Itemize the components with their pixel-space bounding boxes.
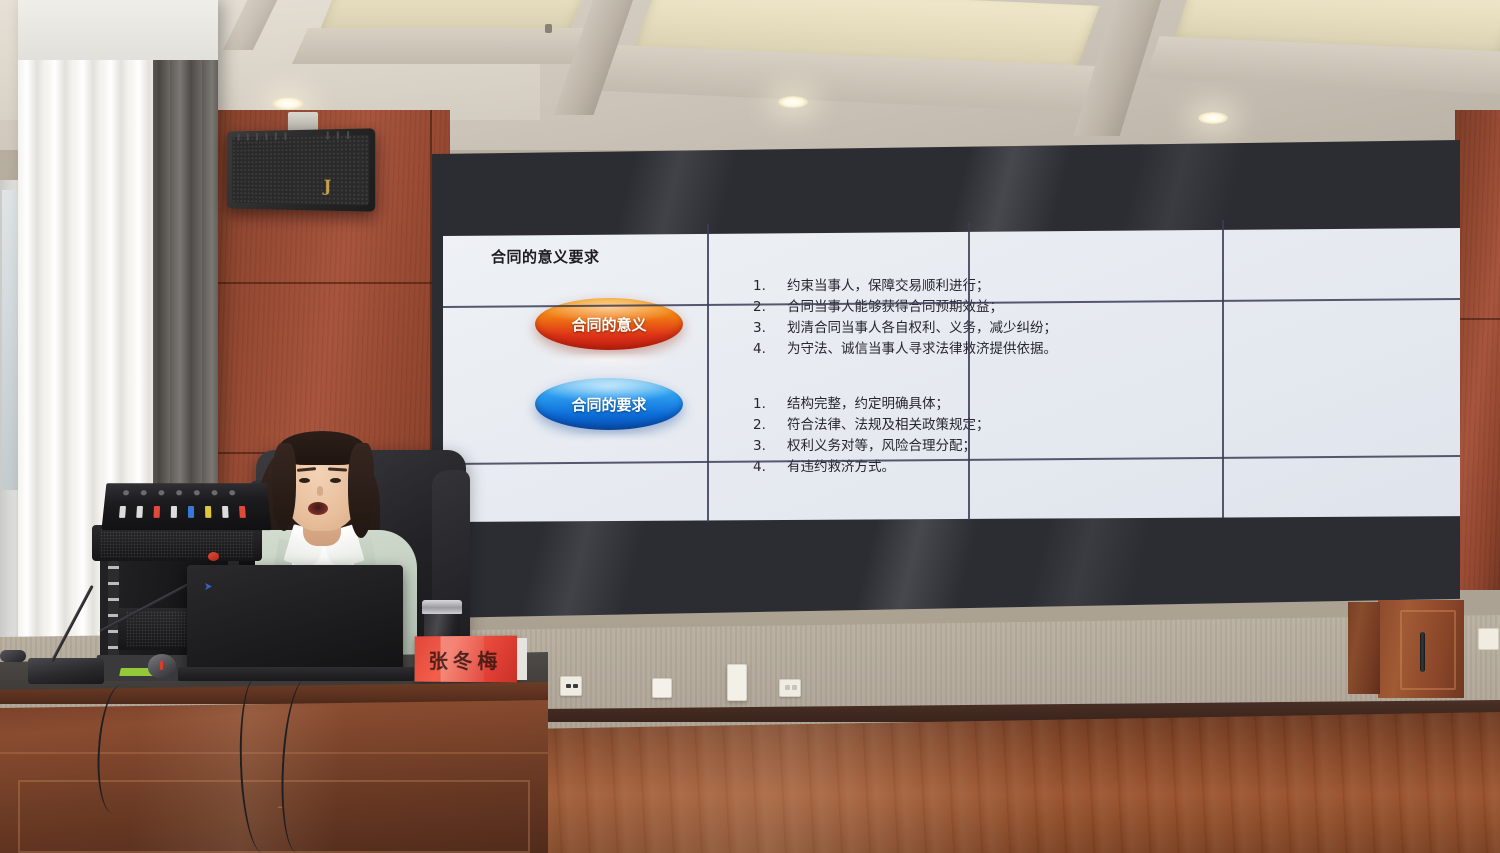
- video-wall-bezel-v1: [707, 224, 709, 522]
- ceiling-downlight-2: [778, 96, 808, 108]
- presenter-nameplate: 张冬梅: [415, 636, 517, 683]
- list-item: 3. 划清合同当事人各自权利、义务，减少纠纷；: [753, 318, 1057, 339]
- speaker-fin: [247, 133, 249, 141]
- list-item-number: 1.: [753, 394, 787, 415]
- video-wall-bezel-v2: [968, 222, 970, 520]
- mixer-fader[interactable]: [119, 506, 126, 518]
- list-item-text: 划清合同当事人各自权利、义务，减少纠纷；: [787, 318, 1057, 339]
- pill-requirement-reflection: [548, 432, 670, 448]
- list-item-number: 3.: [753, 318, 787, 339]
- power-amplifier: [92, 525, 262, 561]
- list-item: 1. 结构完整，约定明确具体；: [753, 394, 990, 415]
- presenter-hair-side-right: [348, 443, 374, 538]
- list-item-number: 2.: [753, 415, 787, 436]
- wall-control-panel[interactable]: [727, 664, 747, 701]
- wall-power-outlet-1[interactable]: [560, 676, 582, 696]
- mixer-knob[interactable]: [176, 490, 182, 495]
- gooseneck-microphone-head: [208, 552, 219, 561]
- pill-label: 合同的意义: [571, 314, 646, 335]
- mixer-fader[interactable]: [171, 506, 177, 518]
- speaker-fin: [256, 133, 258, 141]
- presenter-eye-left: [299, 478, 310, 483]
- nameplate-stand: [517, 638, 527, 680]
- wall-data-jack[interactable]: [779, 679, 801, 697]
- mixer-knob[interactable]: [194, 490, 200, 495]
- list-contract-meaning: 1. 约束当事人，保障交易顺利进行； 2. 合同当事人能够获得合同预期效益； 3…: [753, 276, 1057, 360]
- mixer-fader[interactable]: [239, 506, 246, 518]
- list-item: 3. 权利义务对等，风险合理分配；: [753, 436, 990, 457]
- speaker-fin: [284, 132, 286, 140]
- wood-grain-texture-right: [1455, 110, 1500, 590]
- speaker-grille: [232, 135, 369, 206]
- curtain-valance: [18, 0, 218, 60]
- mixer-fader[interactable]: [154, 506, 160, 518]
- presenter-nose: [317, 486, 323, 496]
- list-item-number: 1.: [753, 276, 787, 297]
- video-wall-bezel-v3: [1222, 220, 1224, 518]
- mixer-knob[interactable]: [211, 490, 217, 495]
- list-contract-requirement: 1. 结构完整，约定明确具体； 2. 符合法律、法规及相关政策规定； 3. 权利…: [753, 394, 990, 478]
- thermos-cap[interactable]: [422, 600, 462, 614]
- jack-slot: [792, 685, 797, 690]
- outlet-slot: [573, 684, 578, 688]
- list-item-number: 4.: [753, 339, 787, 360]
- slide-title: 合同的意义要求: [491, 246, 600, 267]
- mixer-fader[interactable]: [136, 506, 143, 518]
- audio-mixer[interactable]: [101, 483, 271, 530]
- ceiling-coffer-1-inner: [292, 28, 608, 64]
- presentation-slide[interactable]: 合同的意义要求 合同的意义 合同的要求 1. 约束当事人，保障交易顺利进行； 2…: [443, 228, 1460, 522]
- wall-power-outlet-right[interactable]: [1478, 628, 1499, 650]
- list-item-number: 3.: [753, 436, 787, 457]
- speaker-fin: [337, 131, 339, 139]
- speaker-fin: [265, 133, 267, 141]
- speaker-fin: [327, 131, 329, 139]
- presenter-eye-right: [330, 478, 341, 483]
- list-item: 4. 为守法、诚信当事人寻求法律救济提供依据。: [753, 339, 1057, 360]
- speaker-fin: [275, 132, 277, 140]
- cabinet-door-panel[interactable]: [1400, 610, 1456, 690]
- ceiling-sprinkler: [545, 24, 552, 33]
- wall-cabinet[interactable]: [1378, 600, 1464, 698]
- mixer-fader[interactable]: [205, 506, 211, 518]
- outlet-slot: [566, 684, 571, 688]
- speaker-fin: [238, 133, 240, 141]
- mixer-knob[interactable]: [123, 490, 129, 495]
- pill-label: 合同的要求: [571, 394, 646, 415]
- mixer-knob[interactable]: [141, 490, 147, 495]
- presenter-hair-side-left: [272, 443, 296, 531]
- speaker-brand-logo: J: [324, 176, 332, 195]
- wall-cabinet-side: [1348, 602, 1380, 694]
- desk-microphone-capsule: [0, 650, 26, 662]
- power-amplifier-vents: [100, 528, 254, 558]
- mixer-knob[interactable]: [229, 490, 235, 495]
- wall-switch-panel[interactable]: [652, 678, 672, 698]
- wall-speaker: J: [227, 128, 375, 211]
- pill-meaning-reflection: [548, 352, 670, 368]
- jack-slot: [785, 685, 790, 690]
- presenter-mouth: [308, 502, 328, 515]
- list-item-text: 符合法律、法规及相关政策规定；: [787, 415, 990, 436]
- mixer-fader[interactable]: [222, 506, 229, 518]
- mixer-knob[interactable]: [158, 490, 164, 495]
- ceiling-downlight-3: [1198, 112, 1228, 124]
- nameplate-text: 张冬梅: [429, 644, 503, 673]
- list-item-text: 权利义务对等，风险合理分配；: [787, 436, 976, 457]
- cabinet-handle[interactable]: [1420, 632, 1425, 672]
- list-item: 2. 符合法律、法规及相关政策规定；: [753, 415, 990, 436]
- mixer-fader[interactable]: [188, 506, 194, 518]
- list-item-text: 约束当事人，保障交易顺利进行；: [787, 276, 990, 297]
- mouse-led-indicator: [160, 661, 163, 670]
- wood-seam-right: [1455, 318, 1500, 320]
- pill-contract-requirement[interactable]: 合同的要求: [535, 378, 683, 430]
- conference-room-scene: J 合同的意义要求 合同的意义 合同的要求 1. 约束当事人，保障交易顺利进行；…: [0, 0, 1500, 853]
- list-item: 1. 约束当事人，保障交易顺利进行；: [753, 276, 1057, 297]
- list-item-text: 合同当事人能够获得合同预期效益；: [787, 297, 1003, 318]
- ceiling-downlight-1: [272, 97, 304, 110]
- list-item-number: 2.: [753, 297, 787, 318]
- laptop-screen[interactable]: [187, 565, 403, 670]
- list-item-text: 为守法、诚信当事人寻求法律救济提供依据。: [787, 339, 1057, 360]
- wood-wall-right: [1455, 110, 1500, 590]
- desk-microphone-base: [28, 658, 104, 684]
- list-item-text: 结构完整，约定明确具体；: [787, 394, 949, 415]
- list-item: 2. 合同当事人能够获得合同预期效益；: [753, 297, 1057, 318]
- speaker-fin: [347, 131, 349, 139]
- laptop-base[interactable]: [178, 667, 414, 681]
